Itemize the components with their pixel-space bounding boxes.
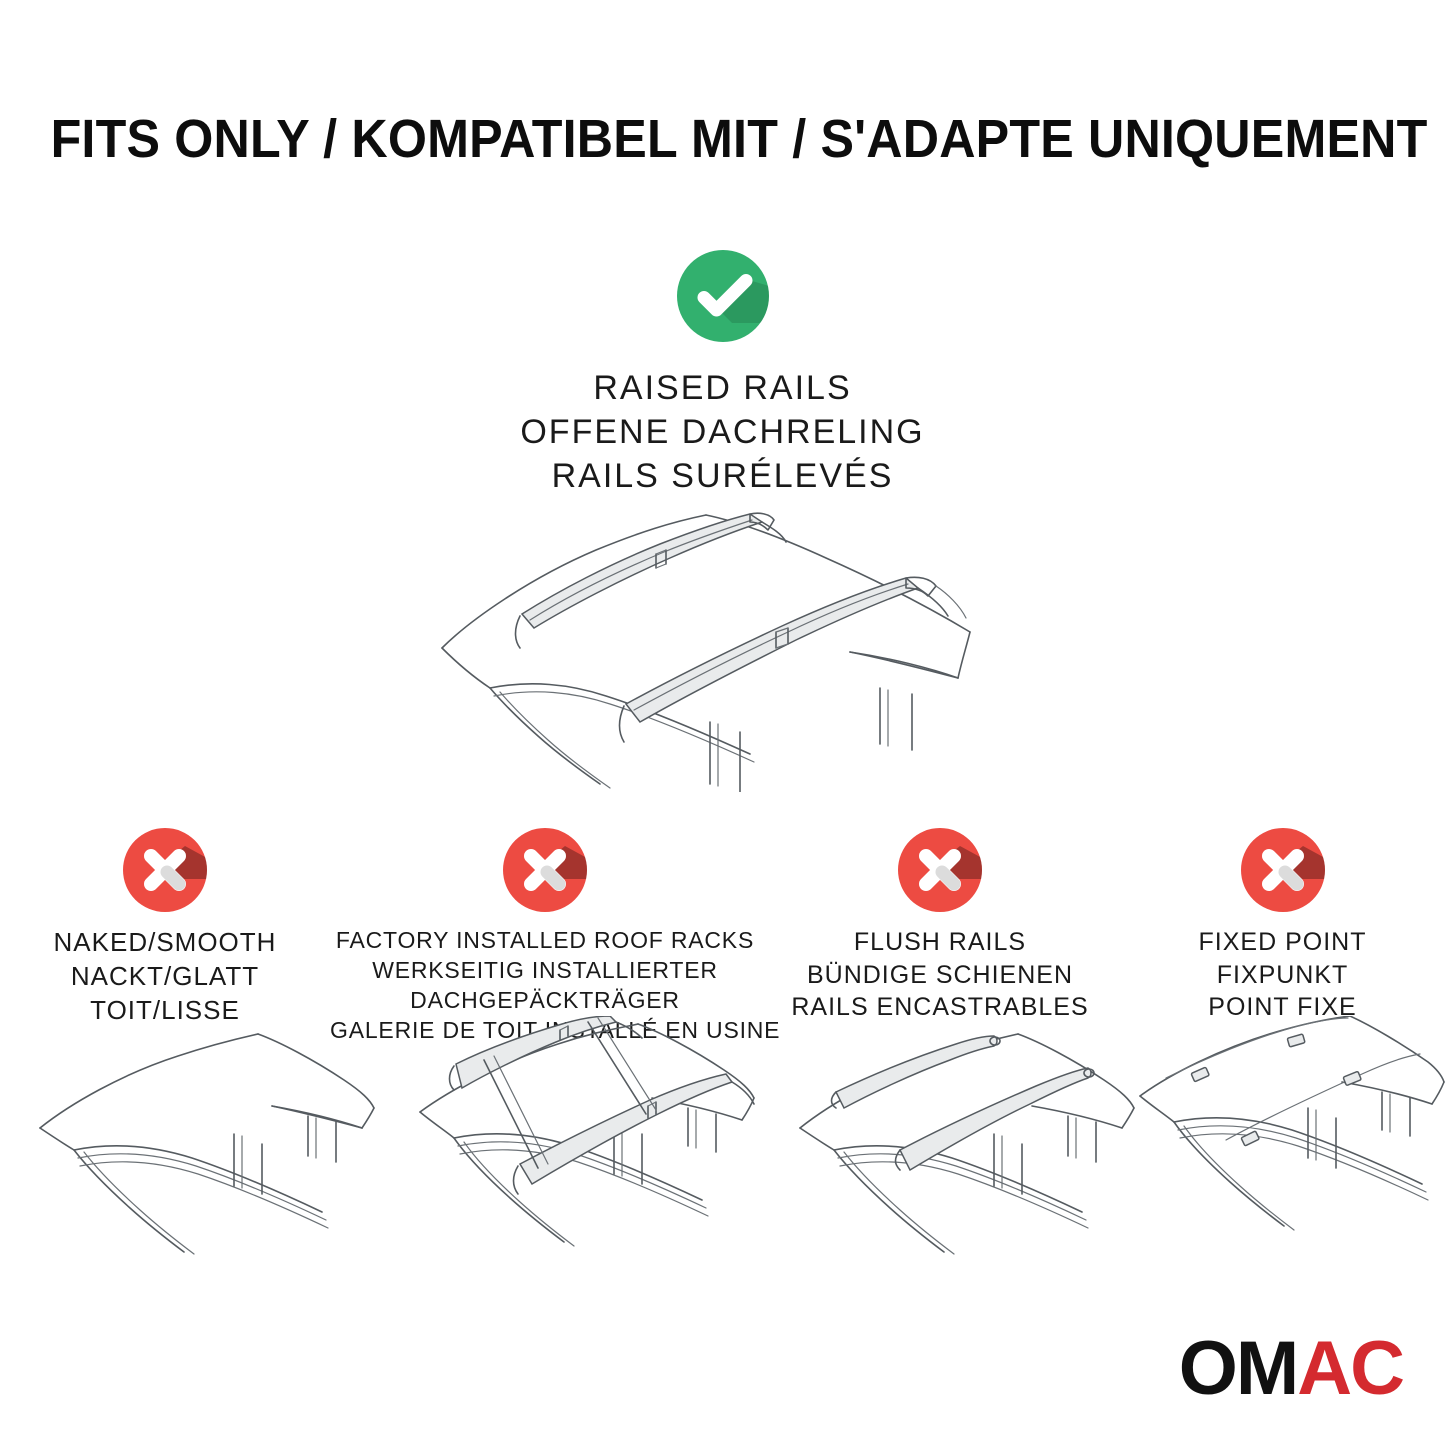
incompatible-item-factory-installed-roof-racks: FACTORY INSTALLED ROOF RACKS WERKSEITIG … <box>330 828 760 1046</box>
logo-text-red: AC <box>1297 1331 1403 1407</box>
x-circle-icon <box>898 828 982 912</box>
check-icon-holder <box>0 250 1445 342</box>
x-circle-icon <box>503 828 587 912</box>
x-circle-icon <box>1241 828 1325 912</box>
caption-line-en: FACTORY INSTALLED ROOF RACKS <box>330 926 760 956</box>
fitment-infographic: FITS ONLY / KOMPATIBEL MIT / S'ADAPTE UN… <box>0 0 1445 1445</box>
caption-line-en: NAKED/SMOOTH <box>0 926 330 960</box>
check-circle-icon <box>677 250 769 342</box>
omac-logo: OMAC <box>1179 1331 1403 1407</box>
item-caption: FLUSH RAILS BÜNDIGE SCHIENEN RAILS ENCAS… <box>760 926 1120 1024</box>
x-icon-holder <box>1120 828 1445 912</box>
page-title: FITS ONLY / KOMPATIBEL MIT / S'ADAPTE UN… <box>51 108 1395 170</box>
caption-line-en: FLUSH RAILS <box>760 926 1120 959</box>
logo-text-dark: OM <box>1179 1331 1297 1407</box>
x-circle-icon <box>123 828 207 912</box>
compatible-line-de: OFFENE DACHRELING <box>0 410 1445 454</box>
caption-line-en: FIXED POINT <box>1120 926 1445 959</box>
x-icon-holder <box>330 828 760 912</box>
incompatible-section: NAKED/SMOOTH NACKT/GLATT TOIT/LISSE <box>0 828 1445 1046</box>
compatible-section: RAISED RAILS OFFENE DACHRELING RAILS SUR… <box>0 250 1445 499</box>
item-caption: NAKED/SMOOTH NACKT/GLATT TOIT/LISSE <box>0 926 330 1027</box>
car-roof-factory-rack-drawing <box>398 1016 758 1266</box>
x-icon-holder <box>0 828 330 912</box>
compatible-caption: RAISED RAILS OFFENE DACHRELING RAILS SUR… <box>0 366 1445 499</box>
car-roof-raised-rails-drawing <box>410 492 1010 792</box>
car-roof-naked-smooth-drawing <box>18 1016 378 1266</box>
car-roof-fixed-point-drawing <box>1130 1016 1445 1266</box>
caption-line-de: NACKT/GLATT <box>0 960 330 994</box>
caption-line-de-2: DACHGEPÄCKTRÄGER <box>330 986 760 1016</box>
x-icon-holder <box>760 828 1120 912</box>
item-caption: FIXED POINT FIXPUNKT POINT FIXE <box>1120 926 1445 1024</box>
incompatible-illustrations-row <box>0 1016 1445 1266</box>
compatible-line-en: RAISED RAILS <box>0 366 1445 410</box>
car-roof-flush-rails-drawing <box>778 1016 1138 1266</box>
incompatible-item-naked-smooth: NAKED/SMOOTH NACKT/GLATT TOIT/LISSE <box>0 828 330 1046</box>
caption-line-de-1: WERKSEITIG INSTALLIERTER <box>330 956 760 986</box>
caption-line-de: BÜNDIGE SCHIENEN <box>760 959 1120 992</box>
caption-line-de: FIXPUNKT <box>1120 959 1445 992</box>
incompatible-item-fixed-point: FIXED POINT FIXPUNKT POINT FIXE <box>1120 828 1445 1046</box>
incompatible-item-flush-rails: FLUSH RAILS BÜNDIGE SCHIENEN RAILS ENCAS… <box>760 828 1120 1046</box>
